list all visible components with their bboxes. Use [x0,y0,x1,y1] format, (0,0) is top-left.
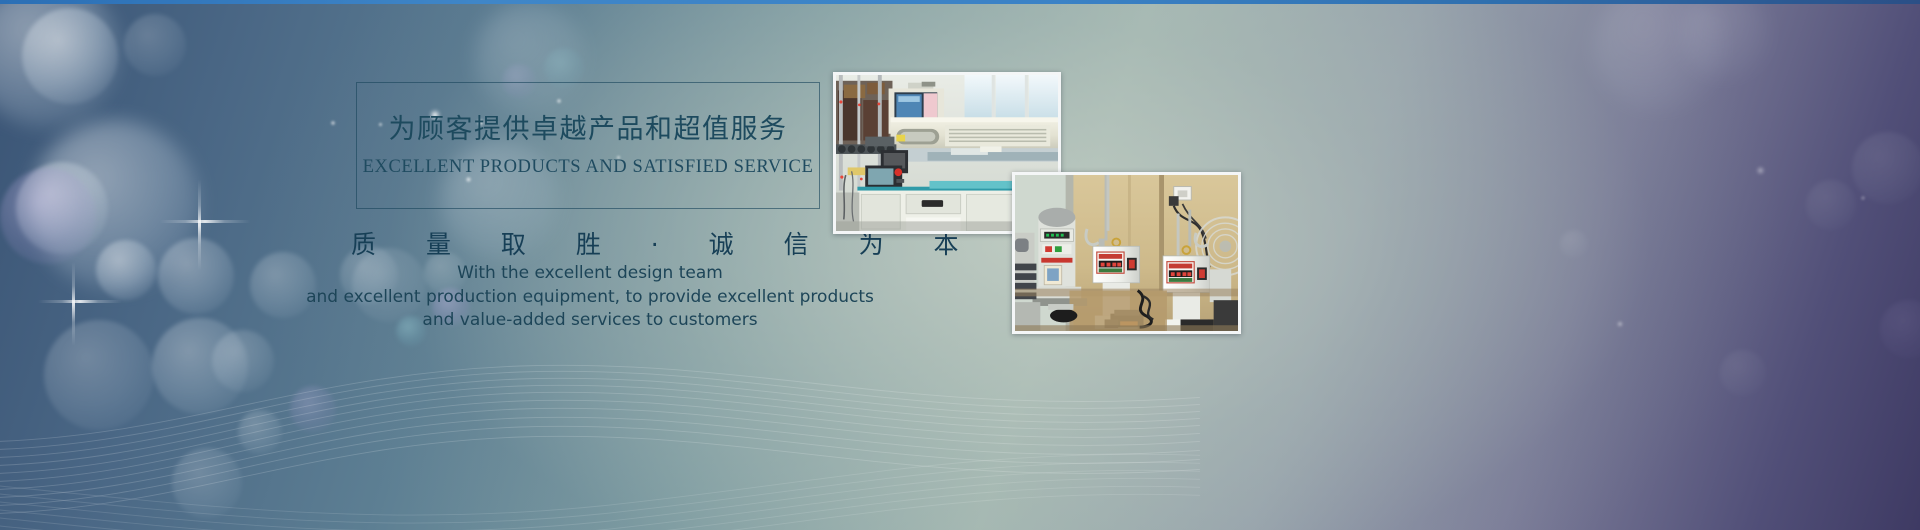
photo-2-content [1015,175,1238,331]
description-line-2: and excellent production equipment, to p… [300,286,880,310]
tagline-chinese: 质 量 取 胜 · 诚 信 为 本 [330,225,850,261]
description-paragraph: With the excellent design team and excel… [300,262,880,333]
promo-banner: 为顾客提供卓越产品和超值服务 EXCELLENT PRODUCTS AND SA… [0,0,1920,530]
top-accent-strip [0,0,1920,4]
description-line-1: With the excellent design team [300,262,880,286]
workshop-press-machines-photo [1012,172,1241,334]
headline-chinese: 为顾客提供卓越产品和超值服务 [356,107,820,146]
headline-english: EXCELLENT PRODUCTS AND SATISFIED SERVICE [356,157,820,178]
description-line-3: and value-added services to customers [300,309,880,333]
